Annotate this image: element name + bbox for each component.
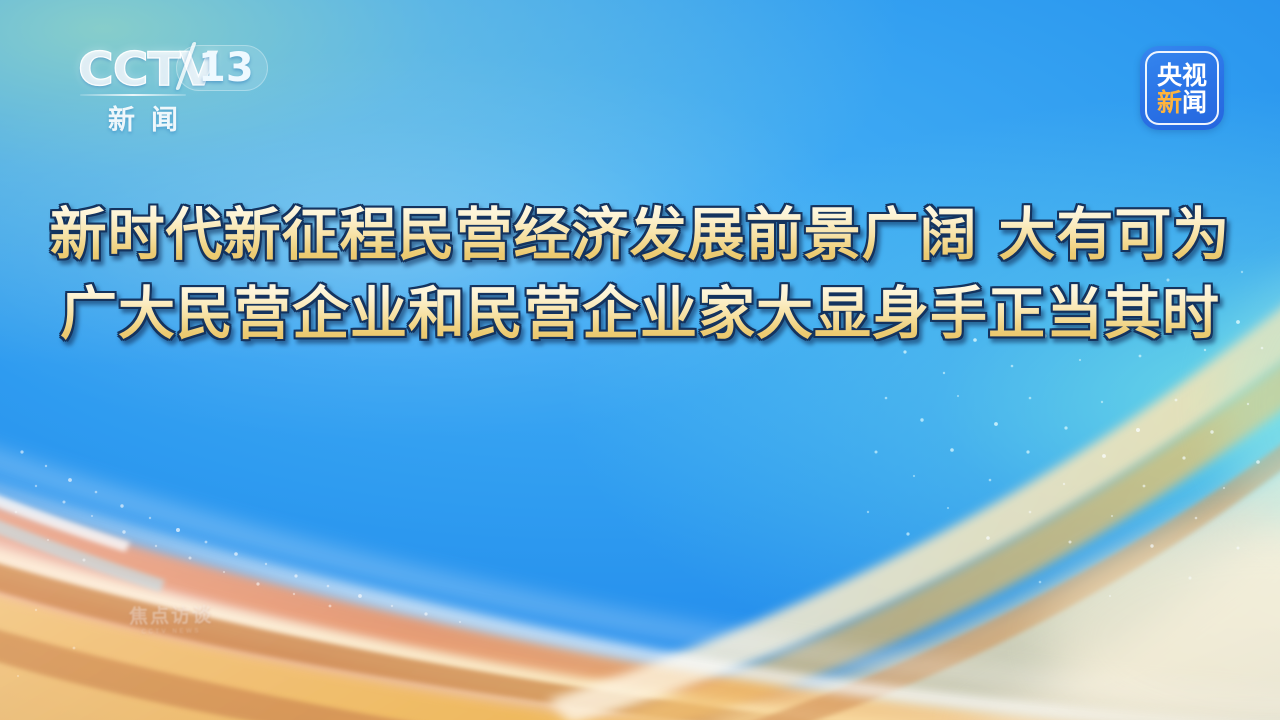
- headline-line-2: 广大民营企业和民营企业家大显身手正当其时: [0, 275, 1280, 353]
- cctv-channel-subtitle: 新闻: [108, 98, 194, 137]
- cctv-news-corner-badge: 央视 新闻: [1140, 46, 1224, 130]
- headline-block: 新时代新征程民营经济发展前景广阔 大有可为 广大民营企业和民营企业家大显身手正当…: [0, 196, 1280, 353]
- broadcast-title-card: CCTV 13 新闻 央视 新闻 新时代新征程民营经济发展前景广阔 大有可为 广…: [0, 0, 1280, 720]
- corner-badge-inner-frame: 央视 新闻: [1145, 51, 1219, 125]
- cctv13-channel-logo: CCTV 13 新闻: [78, 44, 268, 136]
- program-watermark: 焦点访谈 CCTV NEWS: [108, 597, 235, 639]
- program-watermark-text: 焦点访谈: [129, 600, 213, 628]
- corner-badge-accent-char: 新: [1157, 88, 1182, 117]
- corner-badge-line-one: 央视: [1157, 62, 1207, 89]
- corner-badge-plain-char: 闻: [1182, 88, 1207, 117]
- headline-line-1: 新时代新征程民营经济发展前景广阔 大有可为: [0, 196, 1280, 274]
- cctv-underline-rule: [80, 94, 186, 96]
- cctv-channel-number: 13: [198, 46, 254, 90]
- program-watermark-subtext: CCTV NEWS: [141, 628, 201, 635]
- cctv-logo-row: CCTV 13: [78, 44, 268, 94]
- corner-badge-line-two: 新闻: [1157, 89, 1207, 116]
